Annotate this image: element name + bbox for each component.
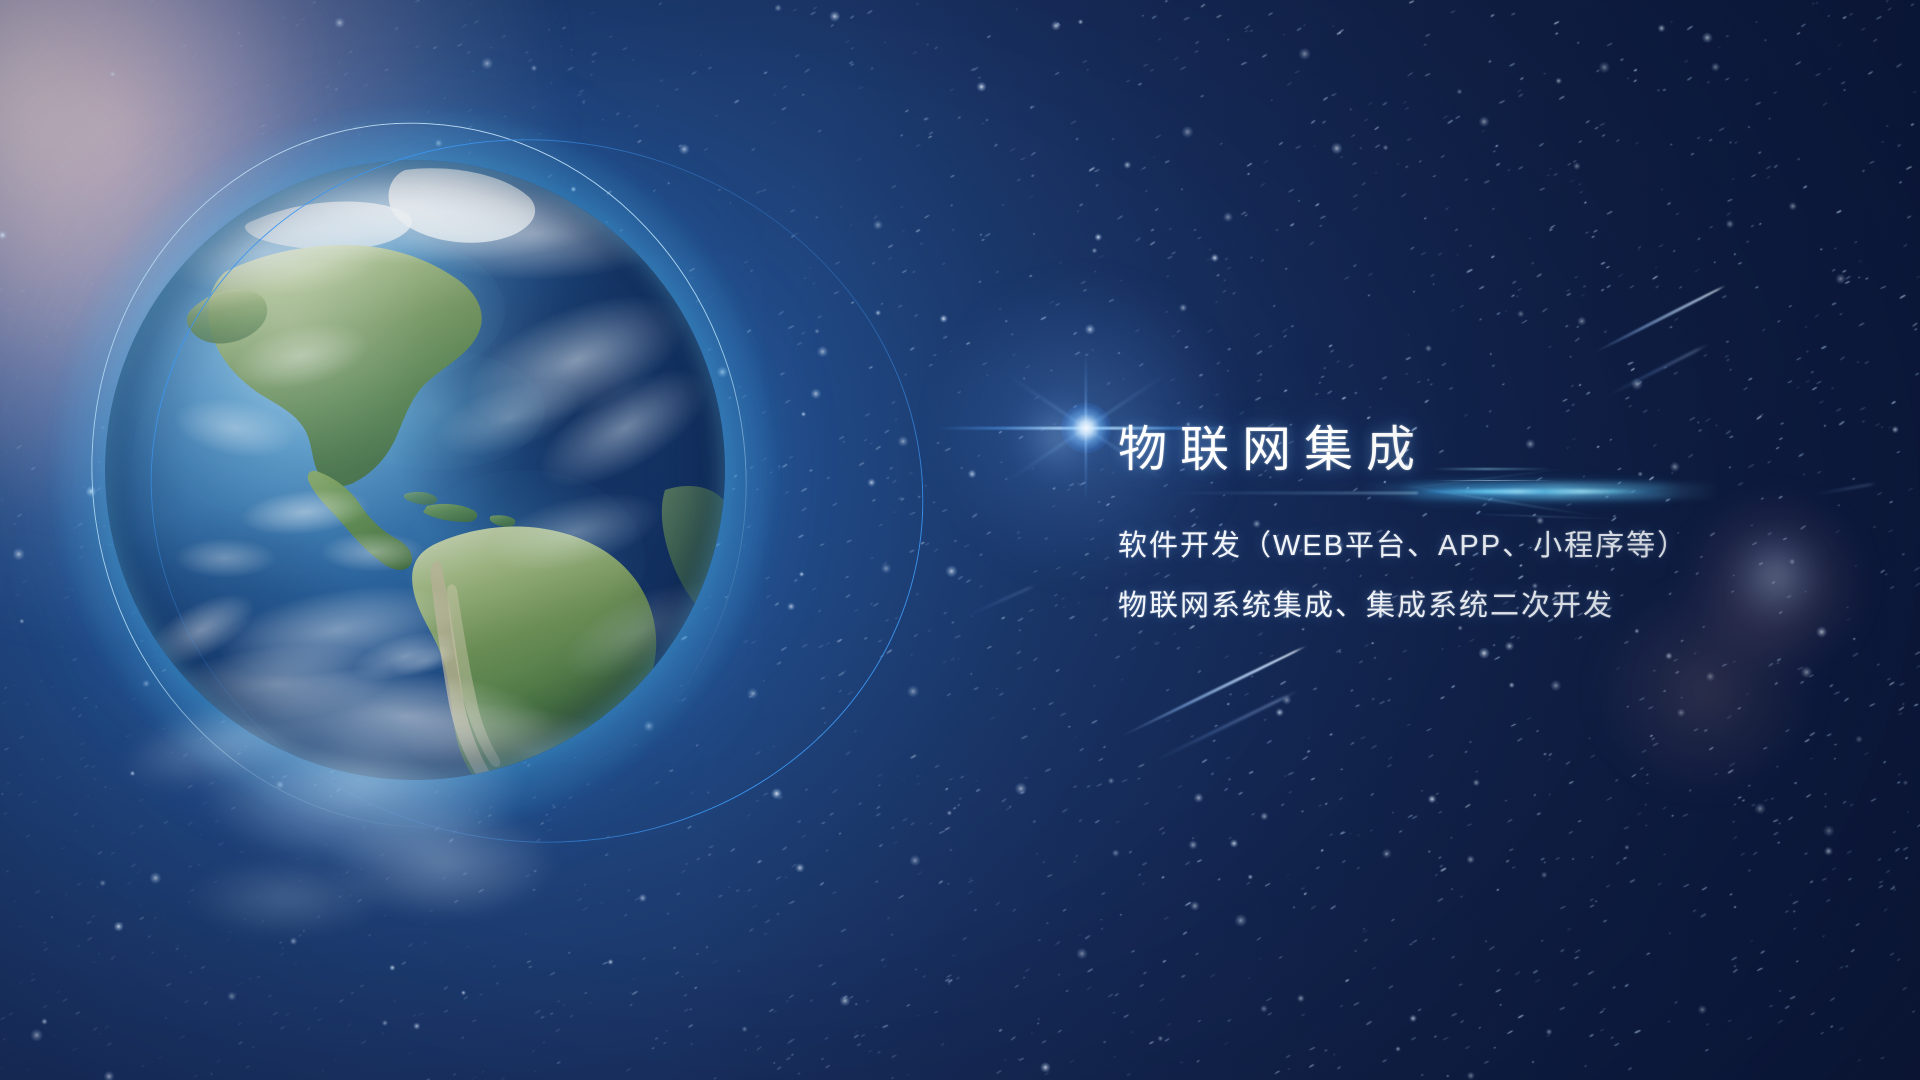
- hero-banner: 物联网集成 软件开发（WEB平台、APP、小程序等） 物联网系统集成、集成系统二…: [0, 0, 1920, 1080]
- vignette: [0, 0, 1920, 1080]
